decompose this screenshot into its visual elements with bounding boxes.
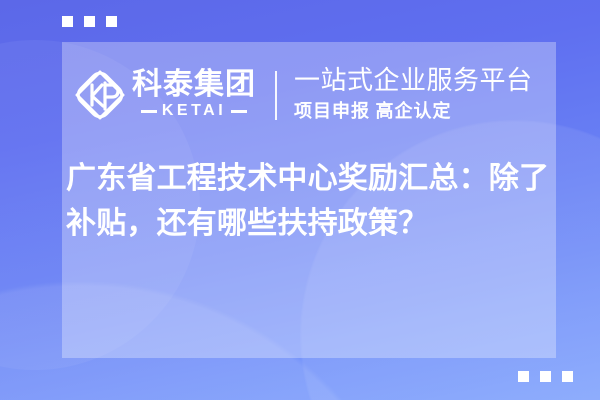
brand-wordmark: 科泰集团 KETAI	[132, 70, 256, 121]
brand-name-en: KETAI	[162, 102, 226, 120]
tagline-main: 一站式企业服务平台	[294, 66, 533, 96]
decorative-square	[84, 16, 95, 27]
banner-image: 科泰集团 KETAI 一站式企业服务平台 项目申报 高企认定 广东省工程技术中心…	[0, 0, 600, 400]
brand-name-cn: 科泰集团	[132, 70, 256, 101]
brand-name-en-row: KETAI	[141, 102, 247, 120]
brand-header: 科泰集团 KETAI 一站式企业服务平台 项目申报 高企认定	[68, 45, 562, 145]
ketai-diamond-kp-logo-icon	[74, 69, 126, 121]
decorative-square	[562, 371, 573, 382]
tagline-sub: 项目申报 高企认定	[294, 100, 533, 123]
wordmark-rule-left	[141, 110, 157, 113]
decorative-squares-top-left	[62, 16, 117, 27]
tagline-block: 一站式企业服务平台 项目申报 高企认定	[294, 66, 533, 123]
wordmark-rule-right	[231, 110, 247, 113]
decorative-square	[106, 16, 117, 27]
page-title: 广东省工程技术中心奖励汇总：除了补贴，还有哪些扶持政策？	[66, 156, 566, 246]
decorative-squares-bottom-right	[518, 371, 573, 382]
decorative-square	[62, 16, 73, 27]
decorative-square	[540, 371, 551, 382]
banner-content-card: 科泰集团 KETAI 一站式企业服务平台 项目申报 高企认定 广东省工程技术中心…	[62, 42, 556, 358]
vertical-divider	[275, 71, 277, 120]
decorative-square	[518, 371, 529, 382]
